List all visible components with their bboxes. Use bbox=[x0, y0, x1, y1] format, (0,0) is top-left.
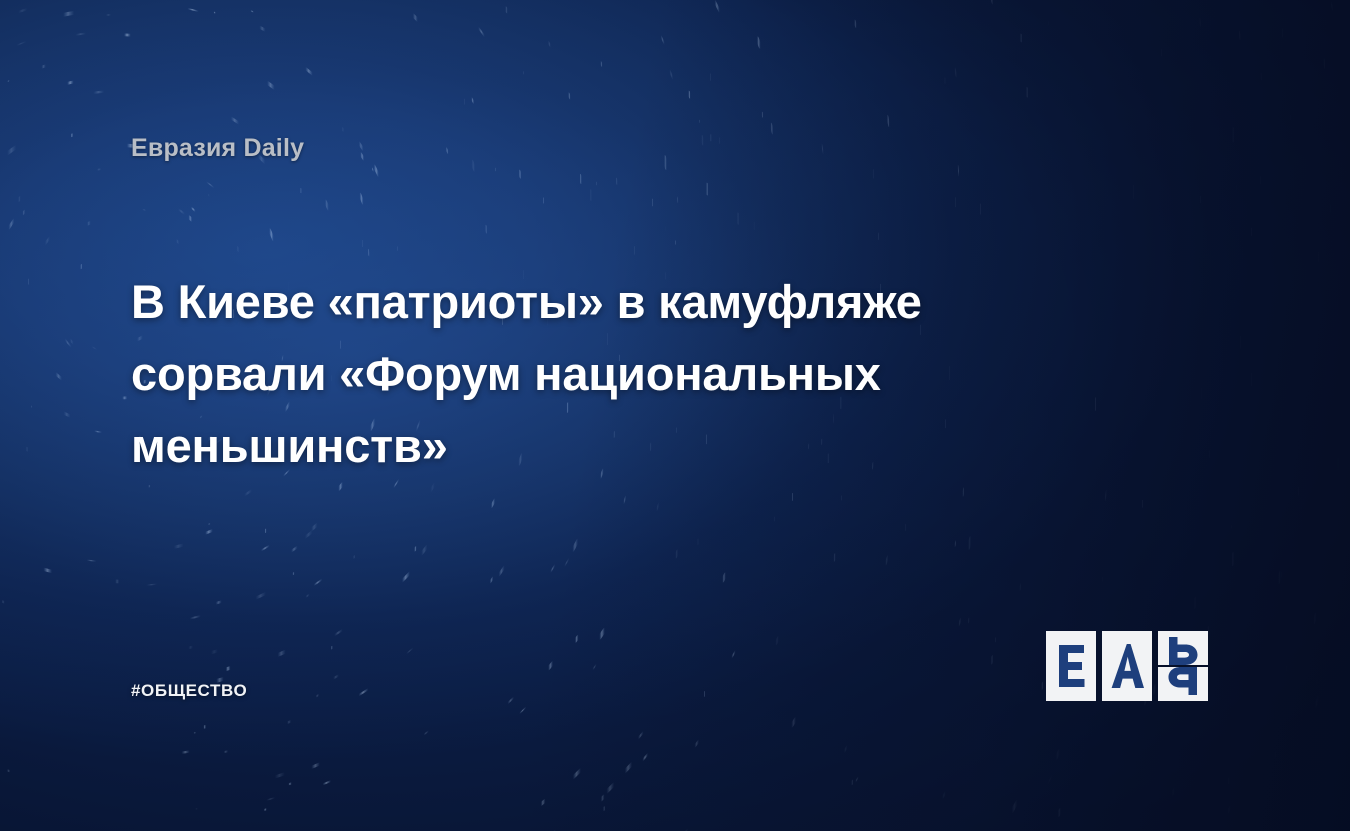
headline-line-1: В Киеве «патриоты» в камуфляже bbox=[131, 266, 1111, 338]
publisher-logotype: Евразия Daily bbox=[131, 134, 304, 163]
headline-line-3: меньшинств» bbox=[131, 410, 1111, 482]
news-card: Евразия Daily В Киеве «патриоты» в камуф… bbox=[0, 0, 1350, 831]
ead-logo[interactable] bbox=[1046, 631, 1208, 701]
logo-tile-e bbox=[1046, 631, 1096, 701]
letter-e-icon bbox=[1046, 631, 1096, 701]
logo-tile-d bbox=[1158, 631, 1208, 701]
headline-line-2: сорвали «Форум национальных bbox=[131, 338, 1111, 410]
letter-a-icon bbox=[1102, 631, 1152, 701]
headline: В Киеве «патриоты» в камуфляже сорвали «… bbox=[131, 266, 1111, 482]
letter-d-icon bbox=[1158, 631, 1208, 701]
rubric-tag[interactable]: #ОБЩЕСТВО bbox=[131, 681, 247, 701]
logo-tile-a bbox=[1102, 631, 1152, 701]
